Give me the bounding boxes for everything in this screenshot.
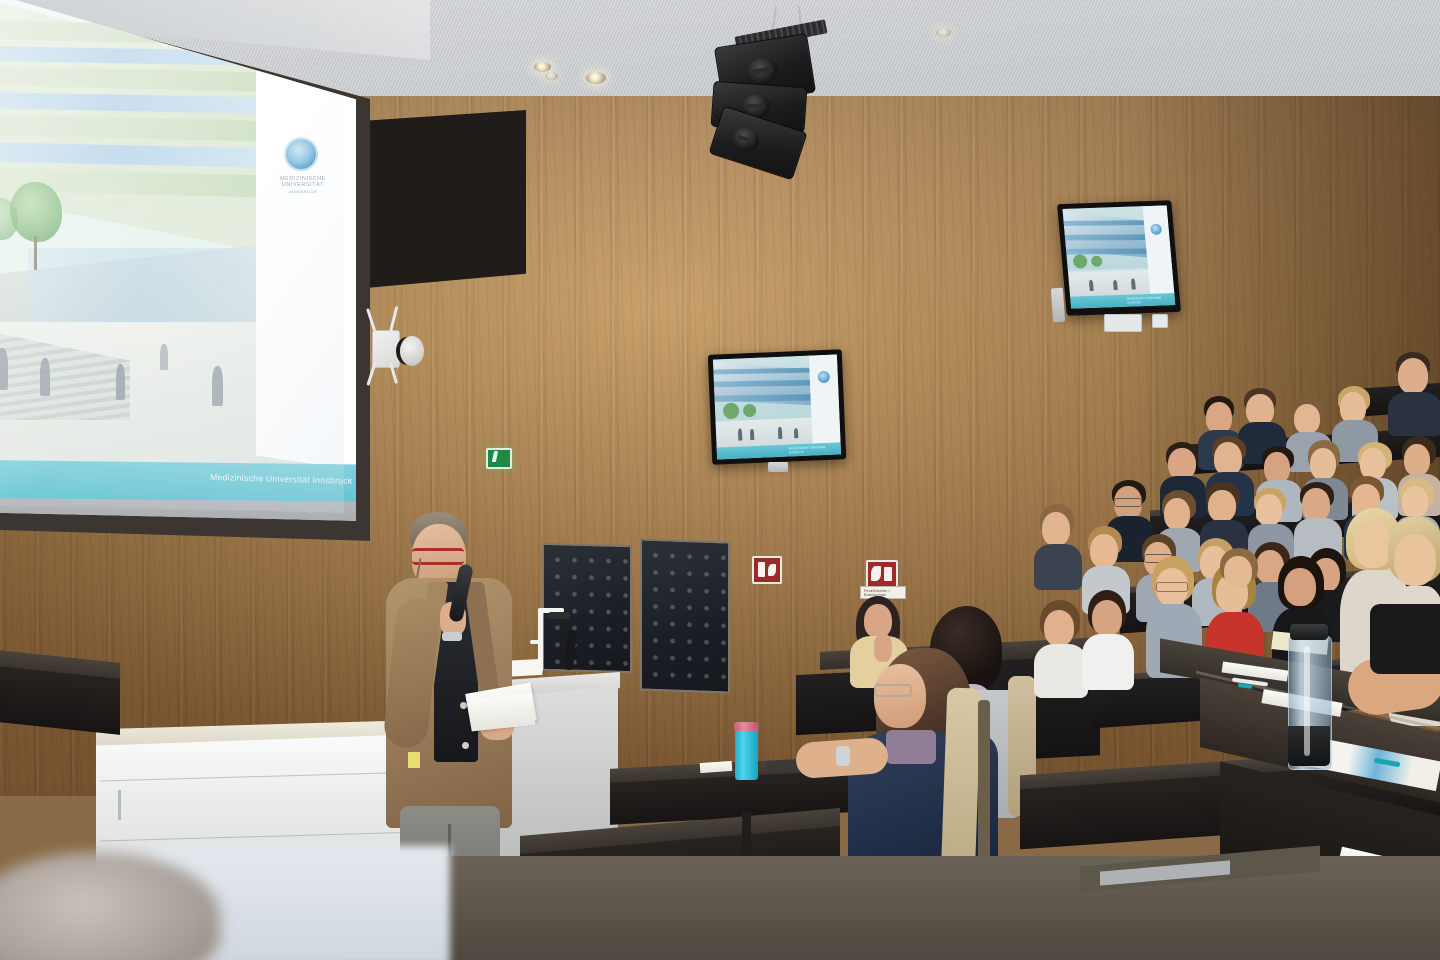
emergency-exit-sign bbox=[486, 448, 512, 469]
audience-head bbox=[1310, 448, 1336, 480]
audience-person bbox=[1082, 590, 1134, 686]
downlight-icon bbox=[534, 62, 551, 72]
audience-head bbox=[1092, 600, 1122, 636]
audience-head bbox=[1354, 522, 1392, 568]
audience-torso bbox=[1034, 544, 1082, 590]
flame-icon bbox=[768, 564, 776, 576]
monitor-bracket bbox=[1051, 288, 1065, 323]
audience-head bbox=[1090, 534, 1118, 568]
attendee-glasses-icon bbox=[874, 684, 912, 697]
presenter-badge bbox=[408, 752, 420, 768]
monitor-figure bbox=[778, 427, 782, 439]
dark-soffit-panel bbox=[366, 110, 526, 288]
audience-person bbox=[1034, 600, 1088, 692]
audience-head bbox=[1256, 494, 1282, 526]
audience-glasses-icon bbox=[1156, 582, 1188, 592]
acoustic-panel-right bbox=[640, 538, 730, 693]
attendee-watch bbox=[836, 746, 850, 766]
audience-person bbox=[1388, 352, 1440, 430]
round-wall-speaker bbox=[400, 336, 424, 366]
audience-head bbox=[1164, 498, 1190, 530]
monitor-wall-plate bbox=[1152, 314, 1168, 328]
audience-head bbox=[1294, 404, 1320, 434]
audience-head bbox=[1044, 610, 1074, 646]
fire-extinguisher-sign bbox=[866, 560, 898, 588]
wall-monitor-center: Medizinische Universität Innsbruck bbox=[708, 349, 846, 465]
flame-icon bbox=[871, 566, 881, 581]
mic-boom-base bbox=[548, 612, 570, 619]
downlight-icon bbox=[936, 28, 951, 37]
downlight-icon bbox=[586, 72, 606, 84]
audience-head bbox=[1208, 490, 1236, 522]
fire-extinguisher-sign bbox=[752, 556, 782, 584]
cabinet-handle bbox=[118, 790, 121, 820]
monitor-logo-panel bbox=[809, 354, 841, 447]
audience-head bbox=[1042, 512, 1070, 546]
panel-perforation-pattern bbox=[642, 540, 728, 691]
monitor-screen: Medizinische Universität Innsbruck bbox=[1063, 205, 1176, 308]
travel-mug bbox=[735, 728, 758, 780]
audience-head bbox=[1398, 358, 1428, 394]
audience-head bbox=[1214, 442, 1242, 476]
audience-glasses-icon bbox=[1114, 498, 1142, 507]
attendee-collar bbox=[886, 730, 936, 764]
audience-torso bbox=[1082, 634, 1134, 690]
audience-head bbox=[1404, 444, 1430, 476]
lecture-hall-photo: MEDIZINISCHE UNIVERSITÄT INNSBRUCK Mediz… bbox=[0, 0, 1440, 960]
extinguisher-icon bbox=[884, 567, 892, 581]
attendee-dark-top bbox=[1370, 604, 1440, 674]
chair-back bbox=[941, 687, 982, 880]
monitor-figure bbox=[750, 429, 754, 440]
audience-head bbox=[1224, 556, 1252, 588]
monitor-bracket bbox=[768, 462, 788, 472]
audience-person bbox=[1034, 504, 1082, 584]
audience-head bbox=[1284, 568, 1316, 606]
blazer-button bbox=[462, 742, 469, 749]
downlight-icon bbox=[545, 72, 558, 80]
monitor-figure bbox=[738, 428, 742, 440]
audience-person bbox=[1214, 548, 1266, 608]
bottle-highlight bbox=[1304, 646, 1310, 756]
monitor-wall-plate bbox=[1104, 314, 1142, 332]
attendee-head bbox=[864, 604, 892, 638]
water-bottle-cap bbox=[1290, 624, 1328, 640]
presenter-watch bbox=[442, 632, 462, 641]
audience-head bbox=[1302, 488, 1330, 522]
monitor-caption: Medizinische Universität Innsbruck bbox=[1126, 295, 1175, 305]
audience-torso bbox=[1034, 644, 1088, 698]
extinguisher-icon bbox=[758, 562, 765, 577]
audience-torso bbox=[1388, 392, 1440, 436]
audience-head bbox=[1394, 534, 1436, 586]
monitor-figure bbox=[794, 428, 798, 438]
presenter-papers bbox=[470, 693, 535, 731]
wall-monitor-upper-right: Medizinische Universität Innsbruck bbox=[1057, 200, 1181, 316]
monitor-screen: Medizinische Universität Innsbruck bbox=[713, 354, 841, 459]
travel-mug-lid bbox=[734, 722, 759, 731]
